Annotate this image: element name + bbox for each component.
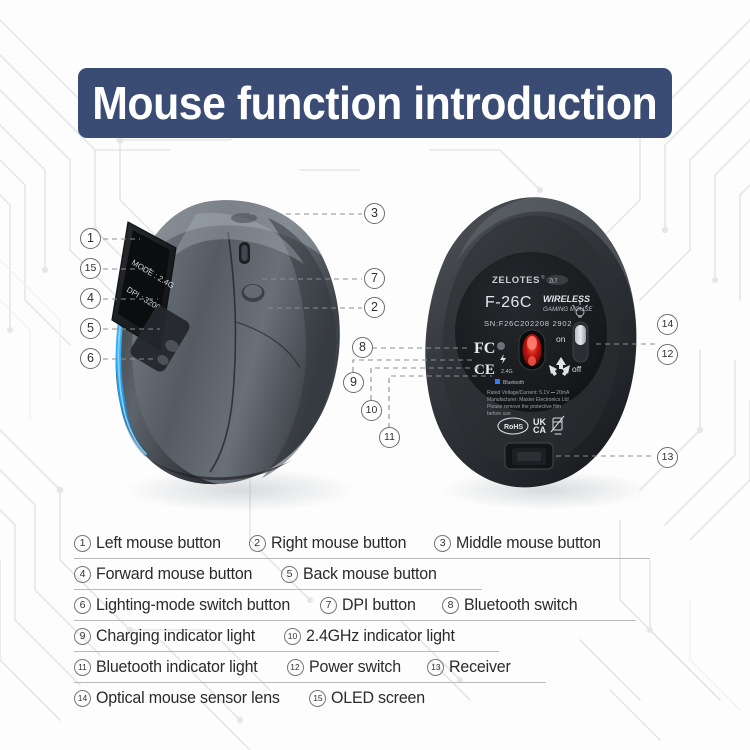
legend-item-10: 10 2.4GHz indicator light bbox=[284, 627, 459, 646]
infographic-page: Mouse function introduction bbox=[0, 0, 750, 750]
callout-4[interactable]: 4 bbox=[80, 288, 101, 309]
legend-item-5: 5 Back mouse button bbox=[281, 565, 441, 584]
legend-num-10: 10 bbox=[284, 628, 301, 645]
page-title-bar: Mouse function introduction bbox=[78, 68, 672, 138]
legend-num-11: 11 bbox=[74, 659, 91, 676]
legend-num-5: 5 bbox=[281, 566, 298, 583]
fc-mark: FC bbox=[474, 340, 495, 357]
legend-label-7: DPI button bbox=[342, 596, 416, 615]
legend-label-14: Optical mouse sensor lens bbox=[96, 689, 280, 708]
legend-num-4: 4 bbox=[74, 566, 91, 583]
legend-num-9: 9 bbox=[74, 628, 91, 645]
mode-24g-label: 2.4G bbox=[501, 369, 513, 375]
ukca-mark-line2: CA bbox=[533, 425, 546, 435]
fineprint-line1: Rated Voltage/Current: 5.1V ⎓ 20mA bbox=[487, 390, 570, 396]
legend-label-9: Charging indicator light bbox=[96, 627, 255, 646]
fineprint-line3: Please remove the protective film bbox=[487, 404, 561, 410]
serial-number: SN:F26C202208 2902 bbox=[484, 319, 572, 328]
optical-sensor-lens bbox=[519, 330, 545, 370]
callout-6[interactable]: 6 bbox=[80, 348, 101, 369]
legend-label-6: Lighting-mode switch button bbox=[96, 596, 290, 615]
switch-off-label: off bbox=[572, 364, 582, 374]
legend-item-2: 2 Right mouse button bbox=[249, 534, 411, 553]
fineprint-line4: before use bbox=[487, 411, 511, 417]
legend-row-4: 9 Charging indicator light 10 2.4GHz ind… bbox=[74, 621, 674, 651]
mode-bluetooth-label: Bluetooth bbox=[503, 380, 524, 386]
brand-sublogo: ZLT bbox=[549, 279, 558, 285]
callout-7[interactable]: 7 bbox=[364, 268, 385, 289]
legend-label-10: 2.4GHz indicator light bbox=[306, 627, 455, 646]
legend-num-12: 12 bbox=[287, 659, 304, 676]
legend-list: 1 Left mouse button 2 Right mouse button… bbox=[74, 528, 674, 713]
legend-item-4: 4 Forward mouse button bbox=[74, 565, 257, 584]
callout-13[interactable]: 13 bbox=[657, 447, 678, 468]
callout-12[interactable]: 12 bbox=[657, 344, 678, 365]
legend-num-1: 1 bbox=[74, 535, 91, 552]
callout-10[interactable]: 10 bbox=[361, 400, 382, 421]
vertical-mouse-side-view: MODE : 2.4G DPI : 3200 bbox=[112, 200, 340, 484]
callout-15[interactable]: 15 bbox=[80, 258, 101, 279]
callout-2[interactable]: 2 bbox=[364, 297, 385, 318]
legend-label-15: OLED screen bbox=[331, 689, 425, 708]
callout-9[interactable]: 9 bbox=[343, 372, 364, 393]
legend-label-1: Left mouse button bbox=[96, 534, 221, 553]
legend-label-13: Receiver bbox=[449, 658, 511, 677]
legend-label-11: Bluetooth indicator light bbox=[96, 658, 258, 677]
legend-item-3: 3 Middle mouse button bbox=[434, 534, 605, 553]
product-type-line1: WIRELESS bbox=[543, 294, 590, 304]
legend-label-3: Middle mouse button bbox=[456, 534, 601, 553]
legend-item-12: 12 Power switch bbox=[287, 658, 404, 677]
legend-row-1: 1 Left mouse button 2 Right mouse button… bbox=[74, 528, 674, 558]
legend-row-6: 14 Optical mouse sensor lens 15 OLED scr… bbox=[74, 683, 674, 713]
mouse-bottom-view: ZELOTES ® ZLT F-26C WIRELESS GAMING MOUS… bbox=[425, 197, 636, 487]
page-title: Mouse function introduction bbox=[93, 76, 658, 130]
legend-label-5: Back mouse button bbox=[303, 565, 437, 584]
callout-5[interactable]: 5 bbox=[80, 318, 101, 339]
brand-trademark: ® bbox=[541, 274, 545, 281]
callout-8[interactable]: 8 bbox=[352, 337, 373, 358]
legend-label-8: Bluetooth switch bbox=[464, 596, 577, 615]
receiver-compartment bbox=[505, 443, 553, 469]
legend-row-2: 4 Forward mouse button 5 Back mouse butt… bbox=[74, 559, 674, 589]
legend-item-1: 1 Left mouse button bbox=[74, 534, 225, 553]
legend-num-3: 3 bbox=[434, 535, 451, 552]
legend-item-15: 15 OLED screen bbox=[309, 689, 428, 708]
legend-item-14: 14 Optical mouse sensor lens bbox=[74, 689, 285, 708]
legend-row-5: 11 Bluetooth indicator light 12 Power sw… bbox=[74, 652, 674, 682]
legend-label-4: Forward mouse button bbox=[96, 565, 252, 584]
legend-item-6: 6 Lighting-mode switch button bbox=[74, 596, 296, 615]
legend-num-14: 14 bbox=[74, 690, 91, 707]
fineprint-line2: Manufacturer: Master Electronics Ltd bbox=[487, 397, 569, 403]
legend-num-8: 8 bbox=[442, 597, 459, 614]
legend-item-13: 13 Receiver bbox=[427, 658, 513, 677]
legend-num-15: 15 bbox=[309, 690, 326, 707]
bluetooth-indicator-dot bbox=[495, 379, 500, 384]
legend-item-8: 8 Bluetooth switch bbox=[442, 596, 581, 615]
svg-text:RoHS: RoHS bbox=[504, 424, 523, 431]
callout-1[interactable]: 1 bbox=[80, 228, 101, 249]
callout-14[interactable]: 14 bbox=[657, 314, 678, 335]
legend-num-2: 2 bbox=[249, 535, 266, 552]
legend-num-13: 13 bbox=[427, 659, 444, 676]
legend-item-9: 9 Charging indicator light bbox=[74, 627, 260, 646]
brand-name: ZELOTES bbox=[492, 275, 540, 286]
legend-item-7: 7 DPI button bbox=[320, 596, 418, 615]
switch-on-label: on bbox=[556, 334, 566, 344]
legend-row-3: 6 Lighting-mode switch button 7 DPI butt… bbox=[74, 590, 674, 620]
legend-num-7: 7 bbox=[320, 597, 337, 614]
model-number: F-26C bbox=[485, 294, 532, 311]
legend-label-12: Power switch bbox=[309, 658, 401, 677]
legend-num-6: 6 bbox=[74, 597, 91, 614]
callout-3[interactable]: 3 bbox=[364, 203, 385, 224]
legend-label-2: Right mouse button bbox=[271, 534, 406, 553]
callout-11[interactable]: 11 bbox=[379, 427, 400, 448]
legend-item-11: 11 Bluetooth indicator light bbox=[74, 658, 263, 677]
